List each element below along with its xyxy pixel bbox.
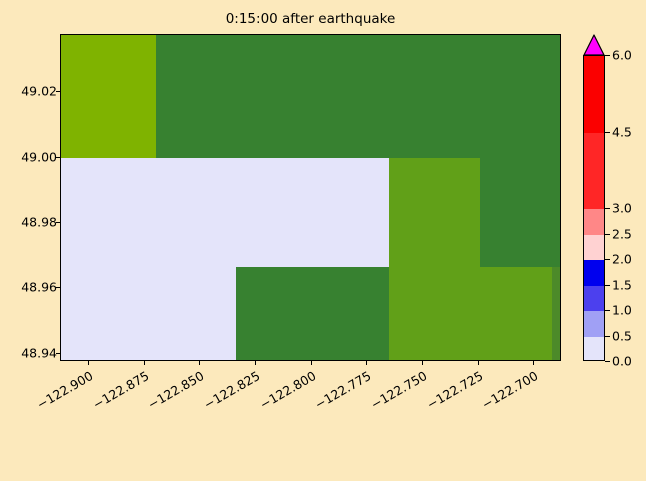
x-tick-label-wrap: −122.900 bbox=[0, 368, 88, 468]
colorbar-segment bbox=[584, 260, 604, 286]
x-tick-label-wrap: −122.800 bbox=[137, 368, 310, 468]
cell-r1-c2 bbox=[480, 158, 561, 268]
colorbar-tick-label: 2.5 bbox=[612, 226, 632, 241]
x-tick-label-wrap: −122.725 bbox=[304, 368, 477, 468]
colorbar-tick-label: 4.5 bbox=[612, 124, 632, 139]
x-tick-mark bbox=[478, 361, 479, 365]
cell-r1-c0 bbox=[61, 158, 389, 268]
x-tick-label: −122.775 bbox=[312, 368, 373, 412]
colorbar-tick-label: 1.5 bbox=[612, 277, 632, 292]
colorbar[interactable] bbox=[583, 34, 605, 361]
x-tick-mark bbox=[533, 361, 534, 365]
y-tick-label: 48.98 bbox=[21, 215, 57, 230]
colorbar-tick-mark bbox=[605, 55, 610, 56]
x-tick-mark bbox=[255, 361, 256, 365]
x-tick-mark bbox=[366, 361, 367, 365]
x-tick-mark bbox=[199, 361, 200, 365]
cell-r0-c1 bbox=[156, 35, 423, 158]
cell-r2-c1 bbox=[236, 267, 390, 361]
colorbar-tick-mark bbox=[605, 336, 610, 337]
cell-r2-c0 bbox=[61, 267, 236, 361]
colorbar-segment bbox=[584, 209, 604, 235]
x-tick-label: −122.900 bbox=[34, 368, 95, 412]
heatmap-axes[interactable] bbox=[60, 34, 561, 361]
colorbar-tick-mark bbox=[605, 285, 610, 286]
cell-r0-c0 bbox=[61, 35, 156, 158]
x-tick-label-wrap: −122.850 bbox=[26, 368, 199, 468]
y-tick-label: 49.00 bbox=[21, 149, 57, 164]
x-tick-label: −122.875 bbox=[90, 368, 151, 412]
colorbar-segment bbox=[584, 56, 604, 133]
colorbar-segment bbox=[584, 133, 604, 210]
colorbar-segment bbox=[584, 286, 604, 312]
y-tick-label: 48.96 bbox=[21, 280, 57, 295]
cell-r2-c3 bbox=[480, 267, 552, 361]
colorbar-segment bbox=[584, 311, 604, 337]
x-tick-label: −122.725 bbox=[424, 368, 485, 412]
x-tick-label: −122.800 bbox=[257, 368, 318, 412]
x-tick-label-wrap: −122.700 bbox=[360, 368, 533, 468]
colorbar-tick-mark bbox=[605, 361, 610, 362]
x-tick-mark bbox=[422, 361, 423, 365]
page-title: 0:15:00 after earthquake bbox=[60, 11, 561, 27]
x-tick-mark bbox=[144, 361, 145, 365]
x-tick-label: −122.750 bbox=[368, 368, 429, 412]
colorbar-segment bbox=[584, 337, 604, 362]
cell-r2-c2 bbox=[389, 267, 479, 361]
figure-canvas: 0:15:00 after earthquake 49.0249.0048.98… bbox=[0, 0, 646, 414]
colorbar-segment bbox=[584, 235, 604, 261]
colorbar-extend-arrow-icon bbox=[583, 34, 605, 56]
colorbar-tick-label: 0.5 bbox=[612, 328, 632, 343]
x-tick-mark bbox=[311, 361, 312, 365]
colorbar-tick-label: 1.0 bbox=[612, 303, 632, 318]
x-tick-label-wrap: −122.825 bbox=[82, 368, 255, 468]
cell-r1-c1 bbox=[389, 158, 479, 268]
x-tick-label: −122.825 bbox=[201, 368, 262, 412]
colorbar-tick-mark bbox=[605, 234, 610, 235]
colorbar-tick-label: 0.0 bbox=[612, 354, 632, 369]
x-tick-label: −122.700 bbox=[479, 368, 540, 412]
colorbar-tick-label: 2.0 bbox=[612, 252, 632, 267]
cell-r2-c4 bbox=[552, 267, 561, 361]
x-tick-mark bbox=[88, 361, 89, 365]
y-tick-label: 49.02 bbox=[21, 84, 57, 99]
cell-r0-c2 bbox=[423, 35, 561, 158]
x-tick-label: −122.850 bbox=[145, 368, 206, 412]
colorbar-gradient bbox=[583, 55, 605, 361]
x-tick-label-wrap: −122.750 bbox=[249, 368, 422, 468]
x-tick-label-wrap: −122.775 bbox=[193, 368, 366, 468]
colorbar-tick-label: 6.0 bbox=[612, 48, 632, 63]
y-tick-label: 48.94 bbox=[21, 345, 57, 360]
colorbar-tick-label: 3.0 bbox=[612, 201, 632, 216]
colorbar-tick-mark bbox=[605, 208, 610, 209]
colorbar-tick-mark bbox=[605, 259, 610, 260]
colorbar-tick-mark bbox=[605, 132, 610, 133]
colorbar-tick-mark bbox=[605, 310, 610, 311]
